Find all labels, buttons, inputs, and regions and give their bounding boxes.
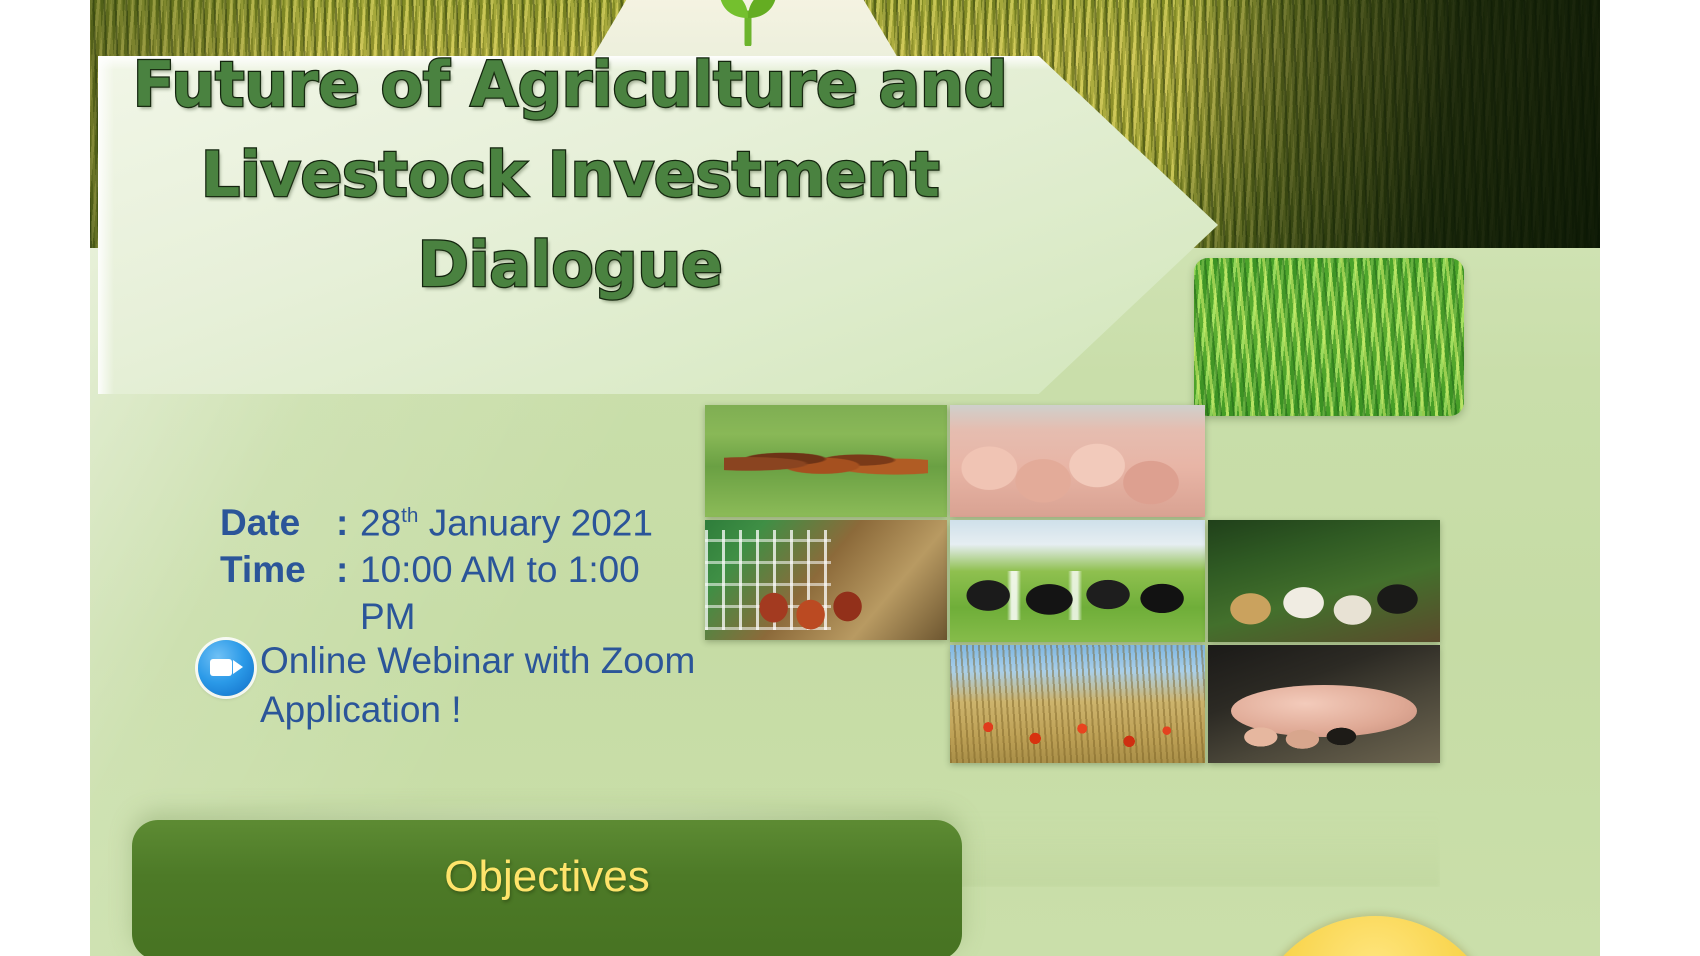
time-label: Time [220,546,336,593]
date-colon: : [336,499,360,546]
sow-with-piglets-photo [1208,645,1440,763]
date-value: 28th January 2021 [360,492,780,546]
poster-slide: Future of Agriculture and Livestock Inve… [0,0,1700,956]
zoom-video-icon [198,640,254,696]
pig-barn-photo [950,405,1205,517]
webinar-line-2: Application ! [260,689,462,730]
time-value: 10:00 AM to 1:00 [360,546,780,593]
free-range-chickens-photo [1208,520,1440,642]
holstein-dairy-cows-photo [950,520,1205,642]
wheat-and-poppies-photo [950,645,1205,763]
date-rest: January 2021 [418,502,653,543]
poster-body: Future of Agriculture and Livestock Inve… [90,0,1600,956]
webinar-line-1: Online Webinar with Zoom [260,640,695,681]
page-title: Future of Agriculture and Livestock Inve… [90,40,1050,310]
rice-texture [1194,258,1464,416]
date-row: Date : 28th January 2021 [220,492,780,546]
date-label: Date [220,499,336,546]
date-day: 28 [360,502,401,543]
time-row: Time : 10:00 AM to 1:00 [220,546,780,593]
time-value-continued: PM [360,593,780,640]
rice-paddy-photo [1194,258,1464,416]
title-line-2: Livestock Investment [90,130,1050,220]
date-day-suffix: th [401,504,418,527]
objectives-bar: Objectives [132,820,962,956]
title-line-1: Future of Agriculture and [90,40,1050,130]
wheat-shadow-right [1180,0,1600,248]
livestock-photo-collage [705,405,1440,795]
title-line-3: Dialogue [90,220,1050,310]
time-colon: : [336,546,360,593]
webinar-text: Online Webinar with Zoom Application ! [260,636,695,734]
event-details: Date : 28th January 2021 Time : 10:00 AM… [220,492,780,640]
webinar-info: Online Webinar with Zoom Application ! [198,636,798,734]
poppy-texture [950,645,1205,763]
objectives-label: Objectives [132,852,962,902]
video-camera-glyph [210,659,232,676]
